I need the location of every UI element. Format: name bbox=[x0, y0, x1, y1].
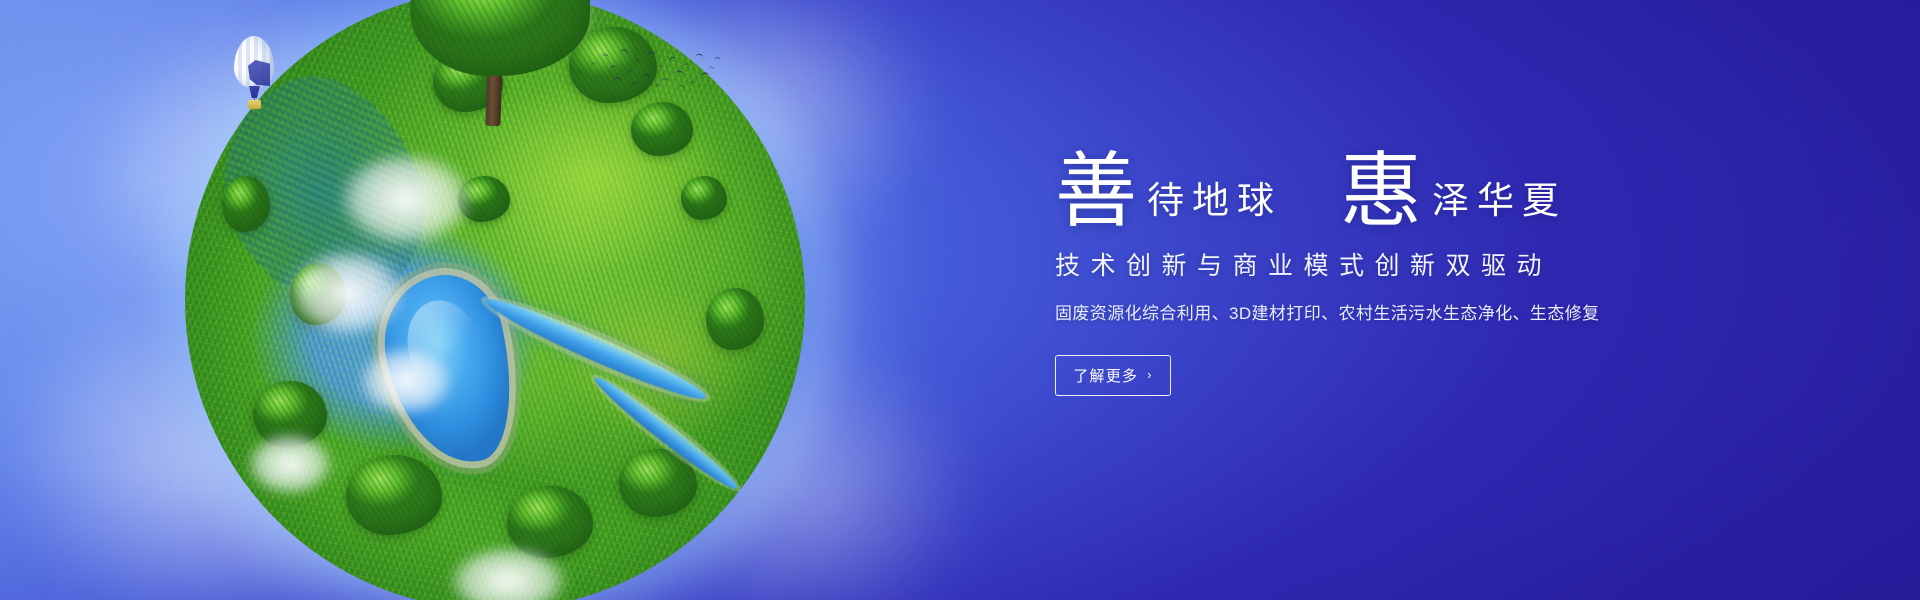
hero-banner: 善 待地球 惠 泽华夏 技术创新与商业模式创新双驱动 固废资源化综合利用、3D建… bbox=[0, 0, 1920, 600]
bird-icon bbox=[602, 54, 609, 58]
bird-icon bbox=[674, 69, 684, 77]
bird-icon bbox=[662, 78, 669, 82]
bird-icon bbox=[631, 80, 640, 87]
headline-phrase-one: 善 待地球 bbox=[1055, 153, 1282, 224]
pole-tree-canopy bbox=[410, 0, 590, 76]
lake bbox=[371, 265, 528, 476]
headline-text-daidiqiu: 待地球 bbox=[1137, 182, 1282, 224]
planet-cloud bbox=[272, 238, 422, 348]
tree-cluster bbox=[222, 176, 270, 232]
lake-sheen bbox=[400, 294, 487, 397]
bird-icon bbox=[678, 84, 685, 90]
description: 固废资源化综合利用、3D建材打印、农村生活污水生态净化、生态修复 bbox=[1055, 299, 1775, 324]
headline-char-hui: 惠 bbox=[1340, 157, 1422, 228]
tree-cluster bbox=[631, 102, 693, 156]
bird-icon bbox=[689, 80, 696, 86]
tree-cluster bbox=[706, 288, 764, 350]
cloud-swirl bbox=[600, 300, 1020, 600]
tree-cluster bbox=[619, 449, 697, 517]
learn-more-button[interactable]: 了解更多 › bbox=[1055, 355, 1171, 396]
learn-more-label: 了解更多 bbox=[1073, 365, 1138, 386]
bird-icon bbox=[695, 53, 703, 58]
bird-flock bbox=[588, 48, 718, 92]
headline: 善 待地球 惠 泽华夏 bbox=[1055, 128, 1775, 224]
bird-icon bbox=[714, 57, 721, 61]
tree-cluster bbox=[507, 486, 593, 558]
bird-icon bbox=[590, 61, 596, 66]
bird-icon bbox=[619, 48, 629, 56]
planet-cloud bbox=[235, 424, 345, 504]
cloud-swirl bbox=[560, 0, 980, 290]
bird-icon bbox=[655, 84, 661, 88]
bird-icon bbox=[642, 73, 651, 79]
tree-cluster bbox=[458, 176, 510, 222]
bird-icon bbox=[627, 70, 632, 73]
chevron-right-icon: › bbox=[1147, 368, 1153, 381]
bird-icon bbox=[647, 51, 657, 58]
hot-air-balloon-icon bbox=[234, 36, 274, 114]
bird-icon bbox=[699, 71, 709, 78]
bird-icon bbox=[709, 66, 715, 71]
bird-icon bbox=[668, 56, 677, 63]
balloon-basket bbox=[248, 100, 261, 109]
river bbox=[587, 372, 743, 494]
planet-cloud bbox=[433, 536, 583, 600]
bird-icon bbox=[656, 65, 662, 70]
tree-cluster bbox=[290, 263, 346, 325]
tree-cluster bbox=[346, 455, 442, 535]
headline-phrase-two: 惠 泽华夏 bbox=[1340, 153, 1567, 224]
tree-cluster bbox=[253, 381, 327, 447]
planet-cloud bbox=[346, 337, 466, 425]
planet-cloud bbox=[321, 139, 491, 259]
tree-cluster bbox=[681, 176, 727, 220]
cloud-swirl bbox=[0, 250, 460, 600]
subtitle: 技术创新与商业模式创新双驱动 bbox=[1055, 246, 1775, 282]
headline-char-shan: 善 bbox=[1055, 157, 1137, 228]
hero-copy-block: 善 待地球 惠 泽华夏 技术创新与商业模式创新双驱动 固废资源化综合利用、3D建… bbox=[1055, 128, 1775, 396]
bird-icon bbox=[635, 58, 642, 64]
cloud-swirl bbox=[150, 330, 610, 600]
bird-icon bbox=[684, 63, 690, 67]
river bbox=[478, 291, 714, 407]
cloud-swirl bbox=[330, 120, 630, 380]
headline-text-zehuaxia: 泽华夏 bbox=[1422, 182, 1567, 224]
bird-icon bbox=[609, 65, 618, 71]
bird-icon bbox=[613, 76, 623, 83]
rocky-ridge bbox=[190, 48, 457, 335]
